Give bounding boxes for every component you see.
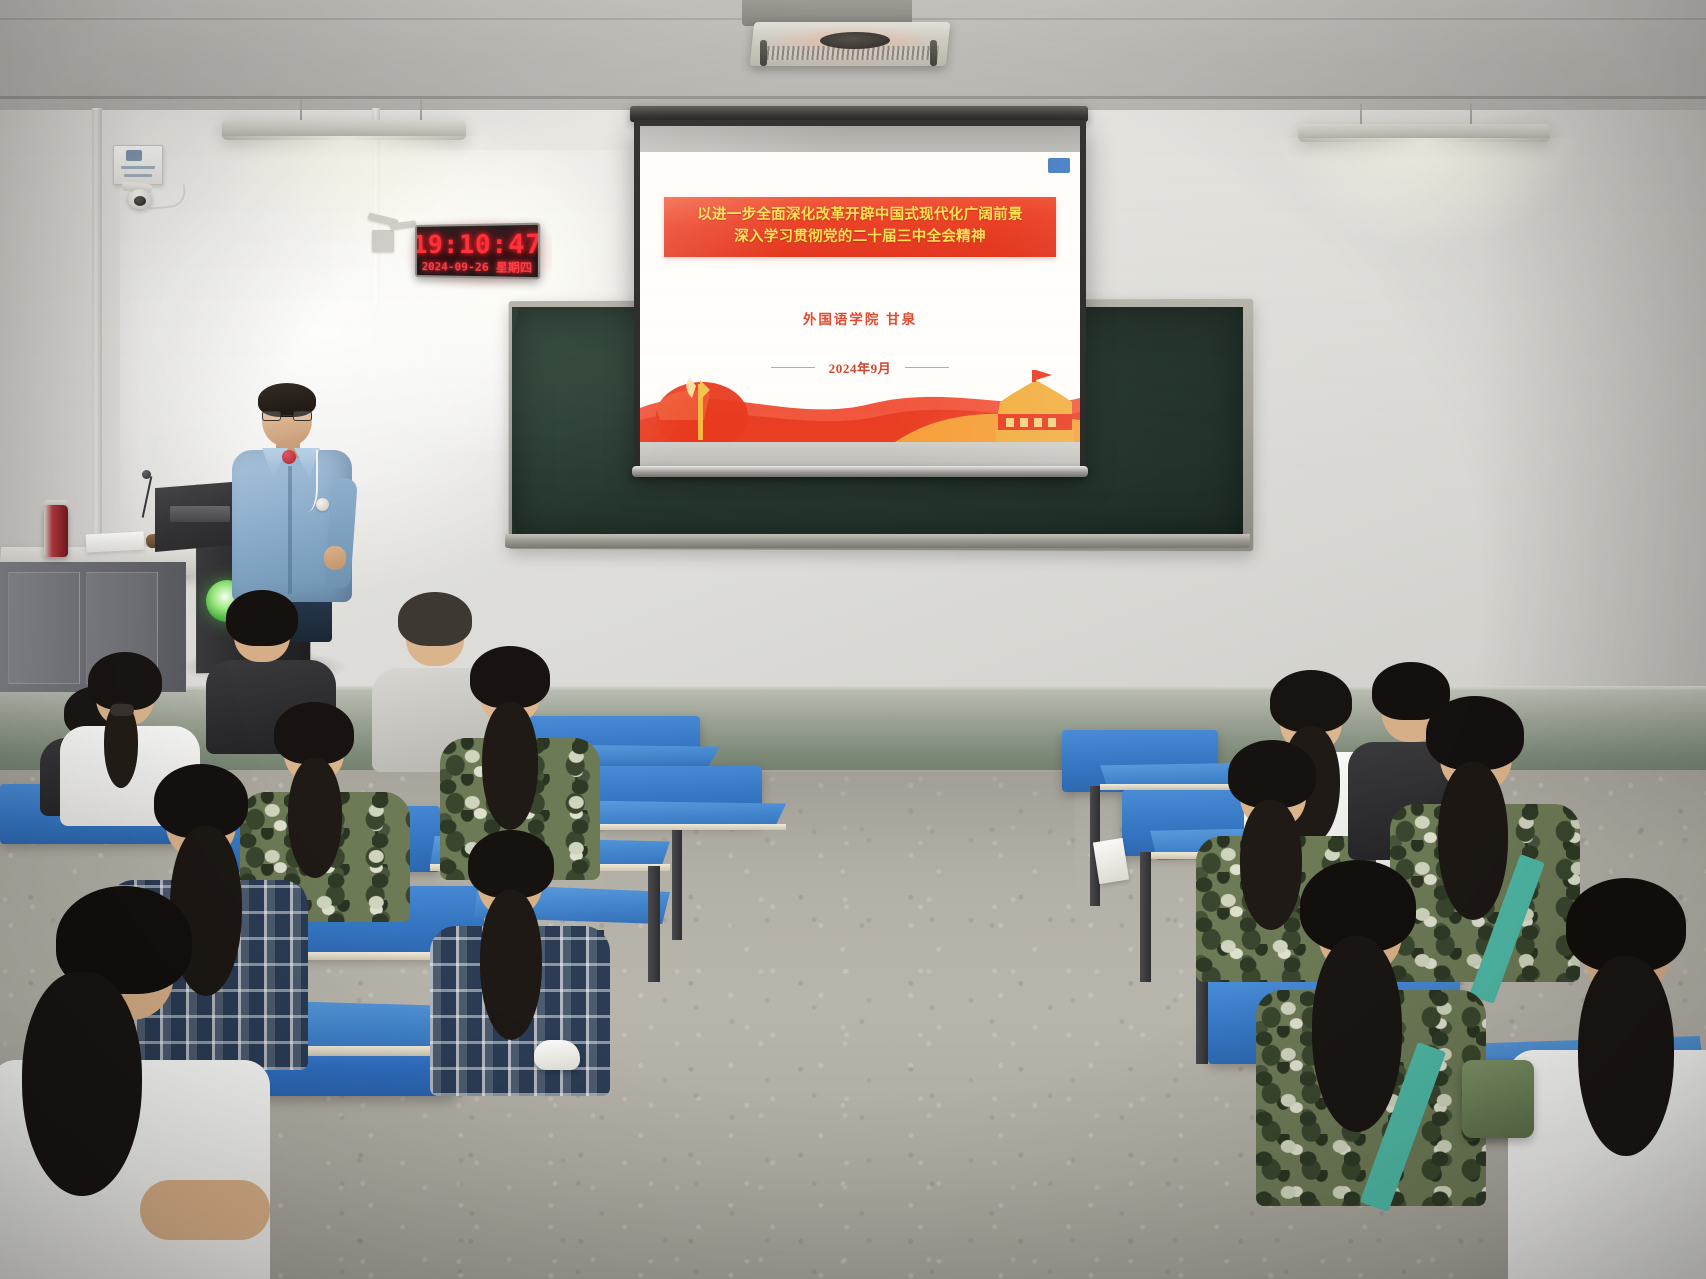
audience-hair [470,646,550,708]
audience-long-hair [480,890,542,1040]
red-thermos-bottle [44,505,68,557]
sign-text-line-2 [124,174,152,177]
audience-hair [1426,696,1524,770]
desk-leg [672,830,682,940]
audience-long-hair [1312,936,1402,1132]
audience-hair-grey [398,592,472,646]
lamp-rod-left-b [420,100,422,122]
slide-title-band: 以进一步全面深化改革开辟中国式现代化广阔前景 深入学习贯彻党的二十届三中全会精神 [664,197,1056,257]
wall-shadow-right [1480,110,1706,710]
camera-lens-icon [134,196,146,206]
slide-logo-icon [1048,158,1070,173]
audience-long-hair [482,702,538,830]
audience-hair [468,830,554,898]
audience-hair [1270,670,1352,732]
audience-long-hair [1578,956,1674,1156]
ceiling-seam-lower [0,96,1706,99]
clock-date-display: 2024-09-26 星期四 [422,261,532,274]
slide-decorative-artwork [640,350,1080,442]
lamp-rod-right-b [1470,104,1472,126]
list-item [0,880,240,1279]
clock-mounting-bracket [368,212,422,252]
hair-tie [110,704,134,716]
presenter-hand [324,546,346,570]
paper-sheet [86,531,145,552]
audience-long-hair [22,972,142,1196]
sneaker [534,1040,580,1070]
paper-sheet [1093,838,1129,884]
slide-letterbox-top [640,126,1080,153]
presenter-badge [316,498,329,511]
clock-time-display: 19:10:47 [415,230,540,257]
fluorescent-lamp-right [1298,124,1550,142]
desk-leg [648,866,660,982]
slide-author-line: 外国语学院 甘泉 [640,308,1080,328]
fluorescent-lamp-left [222,120,466,140]
camera-pictogram-icon [126,150,142,161]
presenter-lanyard [292,450,318,512]
backpack [1462,1060,1534,1138]
lamp-rod-left-a [300,100,302,122]
presenter-lapel-microphone-icon [282,450,296,464]
audience-arm [140,1180,270,1240]
audience-hair [1228,740,1316,808]
projector-screw-left [760,40,767,66]
audience-hair [226,590,298,646]
podium-control-panel[interactable] [170,506,230,522]
audience-long-hair [288,758,342,878]
presentation-slide: 以进一步全面深化改革开辟中国式现代化广阔前景 深入学习贯彻党的二十届三中全会精神… [640,152,1080,442]
classroom-photo: 19:10:47 2024-09-26 星期四 以进一步全面深化改革开辟中国式现… [0,0,1706,1279]
audience-hair [274,702,354,764]
slide-title-line-1: 以进一步全面深化改革开辟中国式现代化广阔前景 [697,205,1023,227]
desk-leg [1140,852,1151,982]
lamp-rod-right-a [1360,104,1362,126]
sign-text-line-1 [121,166,155,169]
screen-bottom-weight-bar [632,466,1088,477]
audience-hair [88,652,162,710]
presenter-figure [232,388,352,618]
podium-microphone-icon [142,470,151,479]
slide-title-line-2: 深入学习贯彻党的二十届三中全会精神 [734,227,986,249]
list-item [1256,858,1456,1198]
led-clock-board: 19:10:47 2024-09-26 星期四 [415,223,540,280]
blackboard-chalk-tray [505,534,1250,548]
list-item [1518,874,1706,1279]
projector-screw-right [930,40,937,66]
presenter-glasses-icon [262,411,312,421]
